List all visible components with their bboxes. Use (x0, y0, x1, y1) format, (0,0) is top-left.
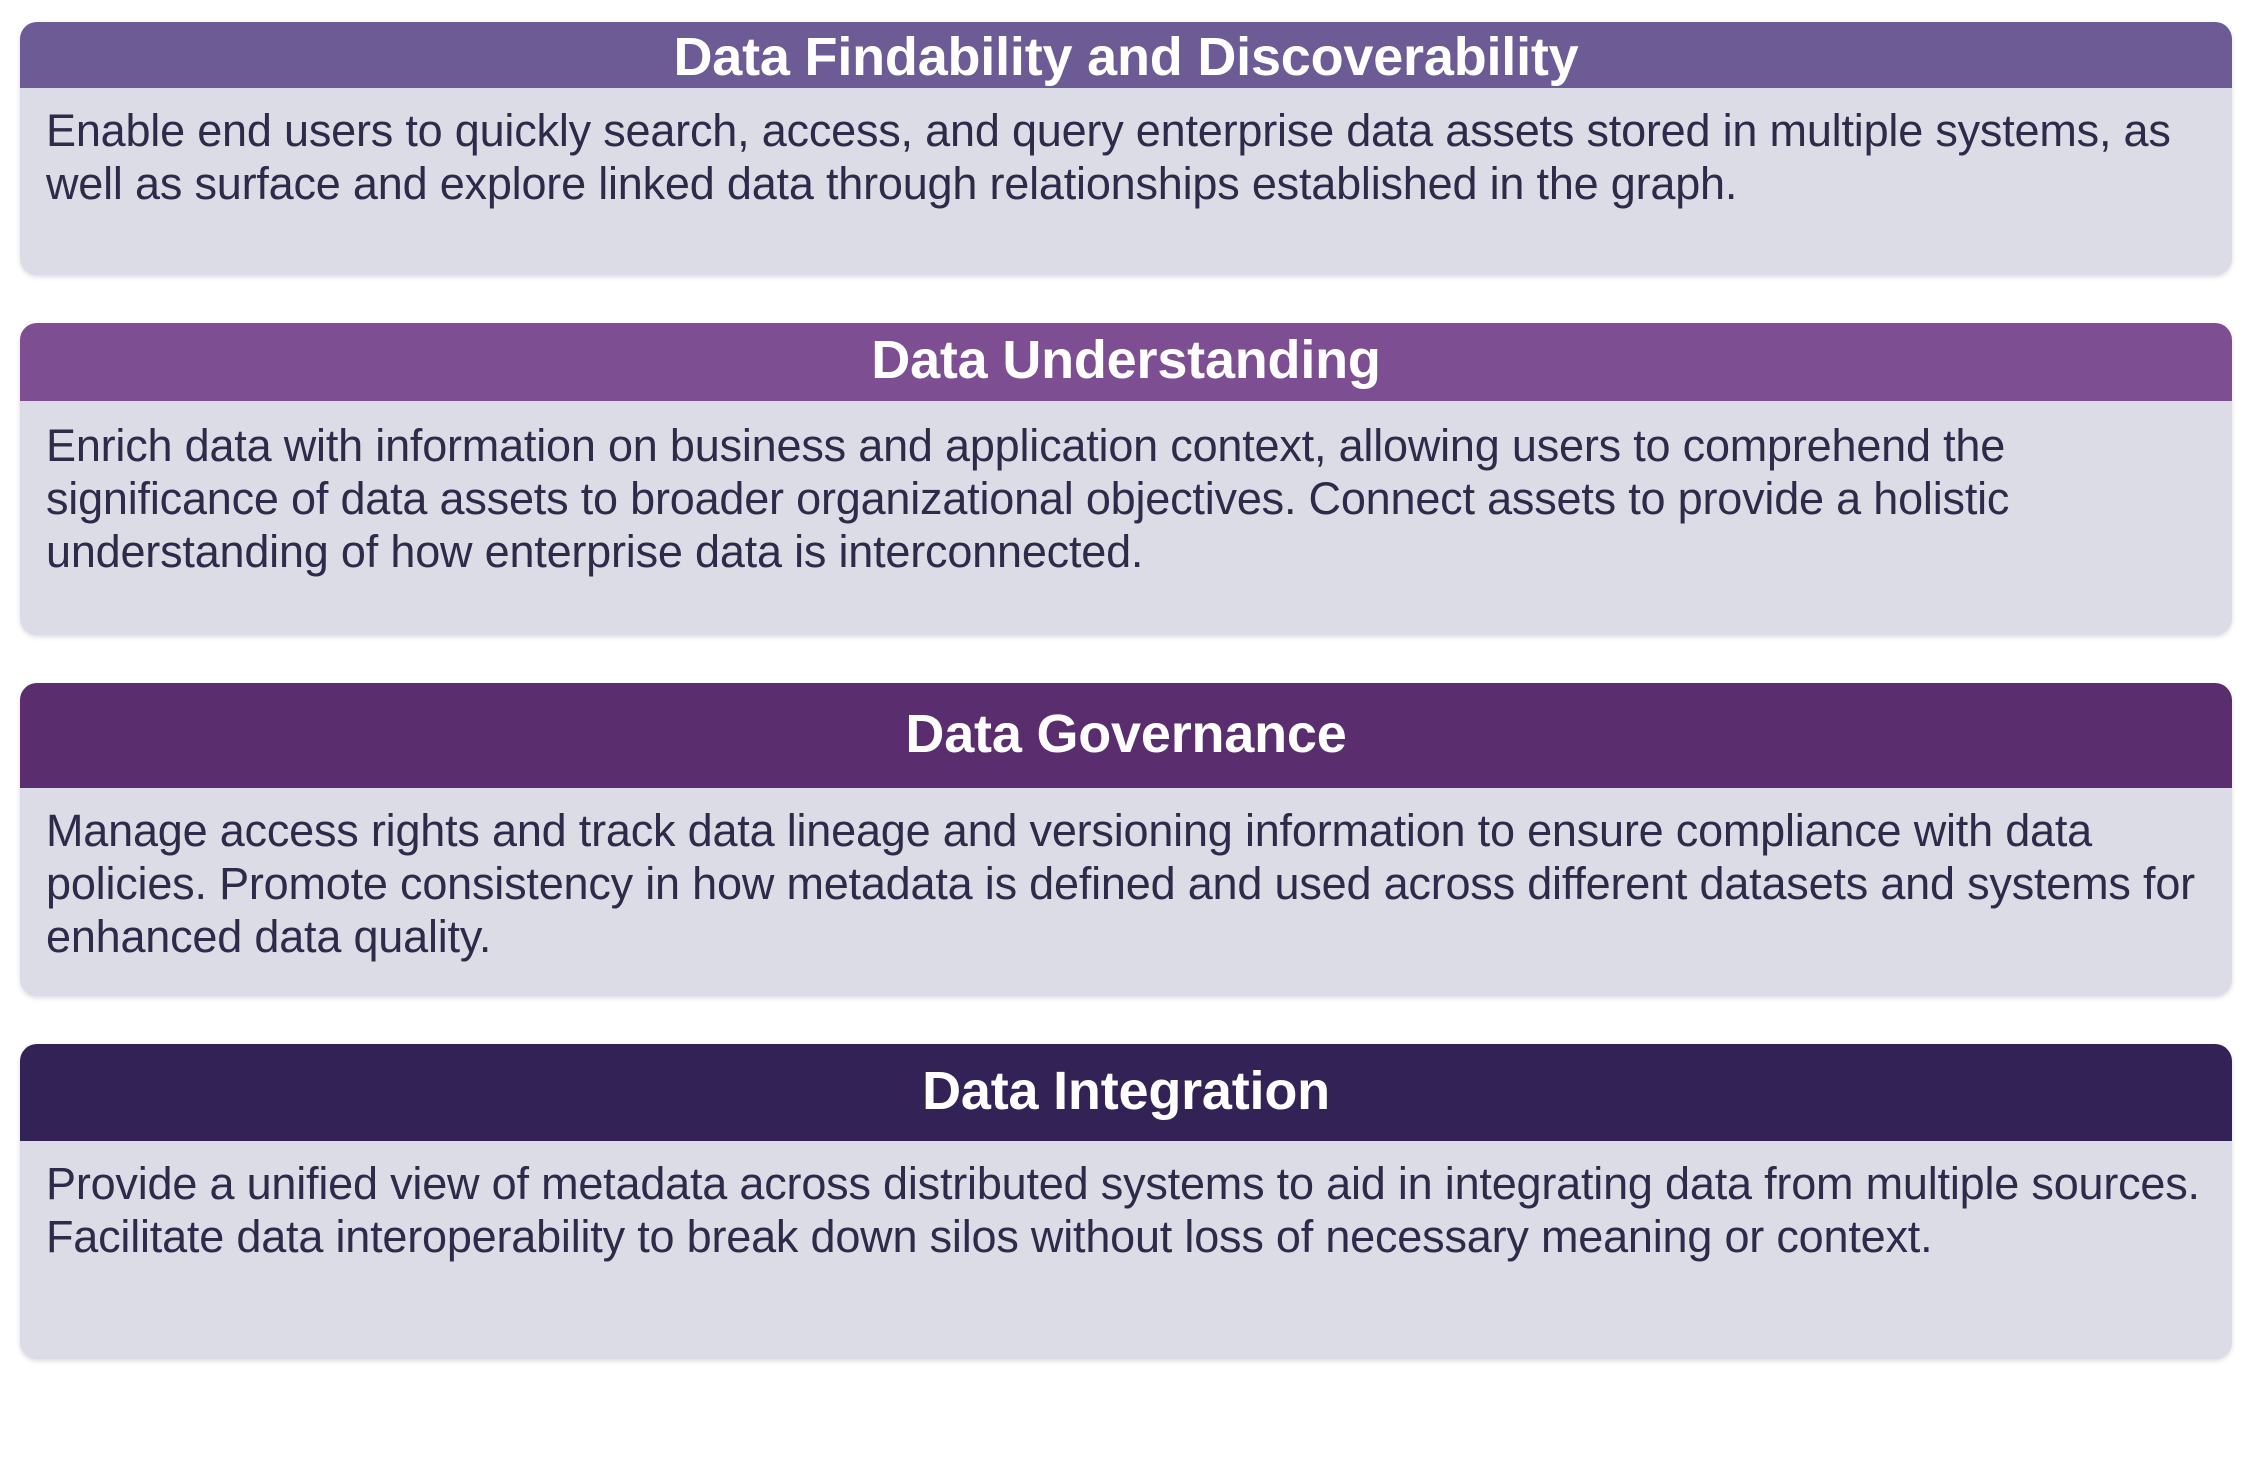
card-description: Enrich data with information on business… (46, 420, 2009, 577)
card-header-data-findability-and-discoverability: Data Findability and Discoverability (20, 22, 2232, 88)
card-description: Manage access rights and track data line… (46, 805, 2195, 962)
card-title: Data Governance (905, 707, 1346, 761)
card-data-governance: Data Governance Manage access rights and… (20, 683, 2232, 996)
card-body-data-findability-and-discoverability: Enable end users to quickly search, acce… (20, 88, 2232, 275)
card-data-integration: Data Integration Provide a unified view … (20, 1044, 2232, 1359)
card-data-understanding: Data Understanding Enrich data with info… (20, 323, 2232, 635)
card-description: Enable end users to quickly search, acce… (46, 105, 2171, 209)
card-header-data-integration: Data Integration (20, 1044, 2232, 1141)
card-body-data-integration: Provide a unified view of metadata acros… (20, 1141, 2232, 1359)
card-header-data-understanding: Data Understanding (20, 323, 2232, 401)
card-title: Data Findability and Discoverability (673, 30, 1578, 84)
card-body-data-understanding: Enrich data with information on business… (20, 401, 2232, 635)
card-title: Data Understanding (871, 333, 1380, 387)
card-body-data-governance: Manage access rights and track data line… (20, 788, 2232, 996)
cards-board: Data Findability and Discoverability Ena… (0, 0, 2260, 1460)
card-data-findability-and-discoverability: Data Findability and Discoverability Ena… (20, 22, 2232, 275)
card-header-data-governance: Data Governance (20, 683, 2232, 788)
card-description: Provide a unified view of metadata acros… (46, 1158, 2200, 1262)
card-title: Data Integration (922, 1064, 1330, 1118)
